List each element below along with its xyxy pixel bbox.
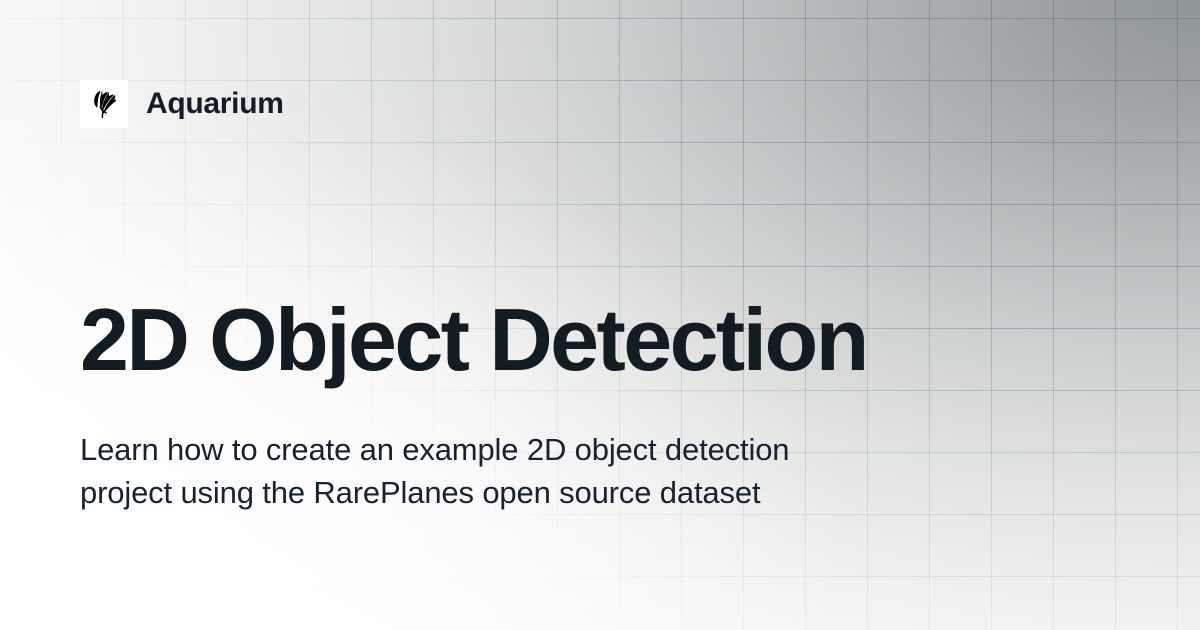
brand-logo-badge bbox=[80, 80, 128, 128]
og-card: Aquarium 2D Object Detection Learn how t… bbox=[0, 0, 1200, 630]
seaweed-frond-icon bbox=[87, 87, 121, 121]
brand-name: Aquarium bbox=[146, 89, 284, 119]
brand-lockup: Aquarium bbox=[80, 80, 284, 128]
card-content: Aquarium 2D Object Detection Learn how t… bbox=[0, 0, 1200, 630]
page-subtitle: Learn how to create an example 2D object… bbox=[80, 428, 810, 514]
page-title: 2D Object Detection bbox=[80, 296, 867, 384]
